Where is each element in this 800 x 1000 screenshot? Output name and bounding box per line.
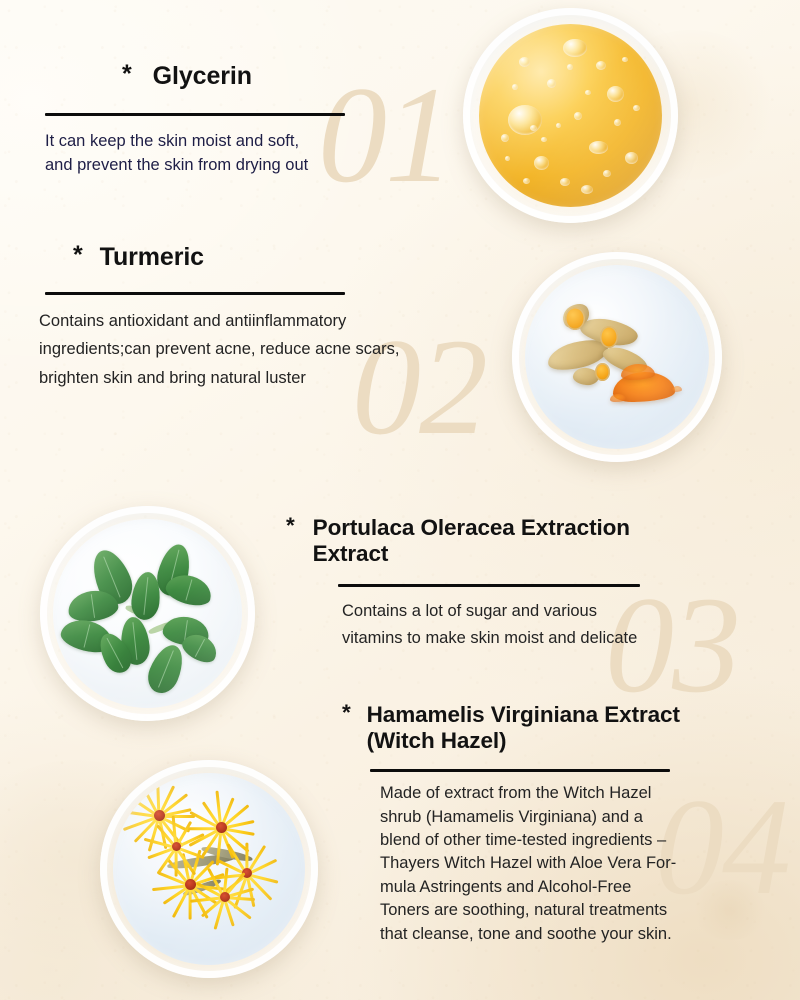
purslane-leaves-dish: [40, 506, 255, 721]
turmeric-dish-rim: [512, 252, 722, 462]
section-glycerin-heading: * Glycerin: [45, 62, 375, 91]
purslane-dish-rim: [40, 506, 255, 721]
bullet-asterisk-icon: *: [122, 62, 132, 87]
section-portulaca: * Portulaca Oleracea Extraction Extract …: [286, 515, 756, 652]
section-portulaca-body: Contains a lot of sugar and various vita…: [342, 598, 756, 651]
turmeric-root-powder-dish: [512, 252, 722, 462]
section-witch-hazel: * Hamamelis Virginiana Extract (Witch Ha…: [342, 702, 800, 946]
witch-hazel-dish-rim: [100, 760, 318, 978]
witch-hazel-flowers-dish: [100, 760, 318, 978]
section-portulaca-title: Portulaca Oleracea Extraction Extract: [313, 515, 630, 567]
section-glycerin-body: It can keep the skin moist and soft, and…: [45, 130, 375, 178]
section-turmeric-title: Turmeric: [100, 243, 204, 272]
infographic-page: 01 02 03 04: [0, 0, 800, 1000]
section-witch-hazel-divider: [370, 769, 670, 772]
glycerin-honey-gel-dish: [463, 8, 678, 223]
section-witch-hazel-title: Hamamelis Virginiana Extract (Witch Haze…: [367, 702, 680, 754]
section-portulaca-heading: * Portulaca Oleracea Extraction Extract: [286, 515, 756, 567]
section-turmeric-heading: * Turmeric: [39, 243, 419, 272]
section-turmeric-divider: [45, 292, 345, 295]
section-glycerin-divider: [45, 113, 345, 116]
bullet-asterisk-icon: *: [73, 243, 83, 268]
section-witch-hazel-body: Made of extract from the Witch Hazel shr…: [380, 782, 800, 946]
section-portulaca-divider: [338, 584, 640, 587]
glycerin-dish-rim: [463, 8, 678, 223]
section-turmeric: * Turmeric Contains antioxidant and anti…: [39, 243, 419, 392]
section-glycerin: * Glycerin It can keep the skin moist an…: [45, 62, 375, 178]
section-turmeric-body: Contains antioxidant and antiinflammator…: [39, 307, 419, 392]
section-glycerin-title: Glycerin: [153, 62, 252, 91]
bullet-asterisk-icon: *: [342, 702, 351, 725]
bullet-asterisk-icon: *: [286, 515, 295, 538]
section-witch-hazel-heading: * Hamamelis Virginiana Extract (Witch Ha…: [342, 702, 800, 754]
